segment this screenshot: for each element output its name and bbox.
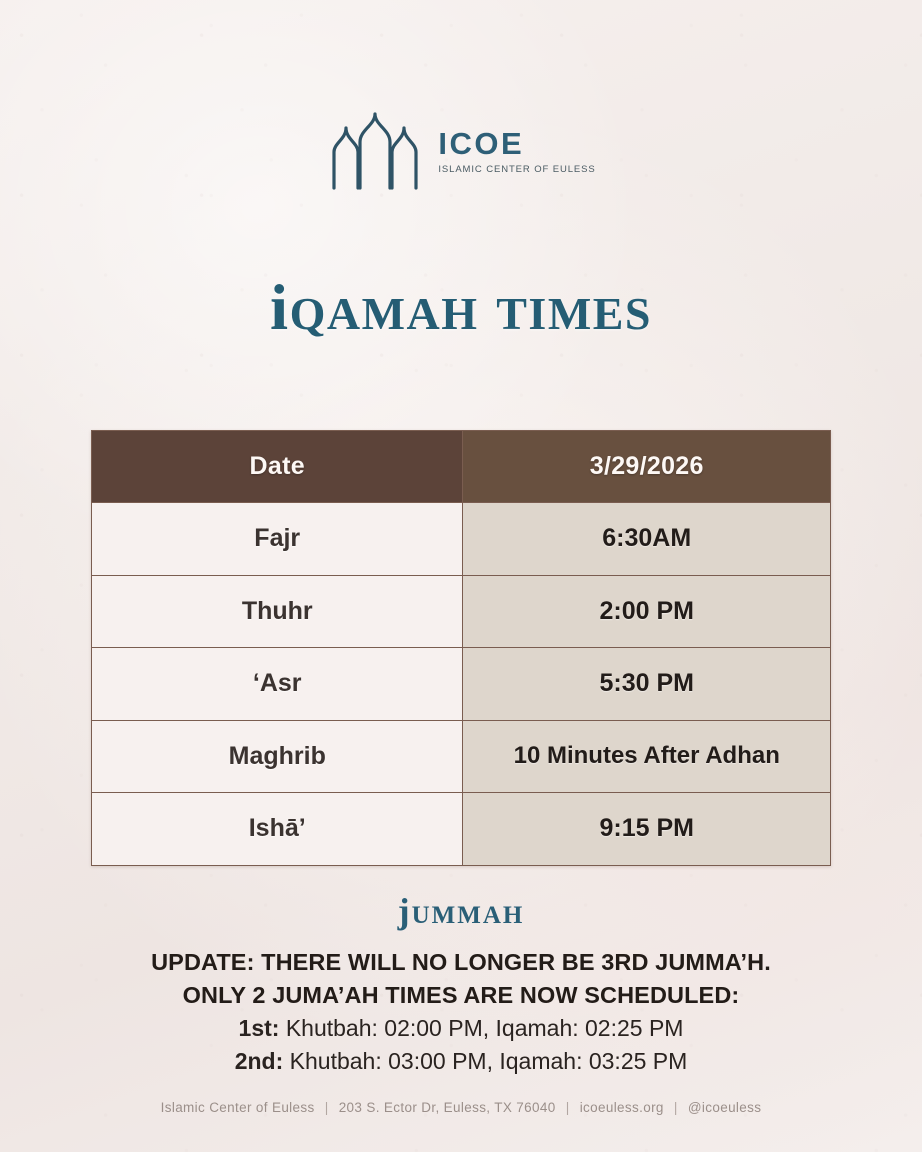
footer-address: 203 S. Ector Dr, Euless, TX 76040 (339, 1100, 556, 1115)
brand-name: ICOE (438, 128, 524, 159)
jummah-notice: UPDATE: THERE WILL NO LONGER BE 3RD JUMM… (0, 946, 922, 1078)
table-body: Fajr 6:30AM Thuhr 2:00 PM ‘Asr 5:30 PM M… (92, 503, 831, 866)
jummah-slot-2: 2nd: Khutbah: 03:00 PM, Iqamah: 03:25 PM (0, 1045, 922, 1078)
table-row: Ishā’ 9:15 PM (92, 793, 831, 866)
prayer-name-fajr: Fajr (92, 503, 463, 576)
jummah-slot-2-detail: Khutbah: 03:00 PM, Iqamah: 03:25 PM (290, 1048, 688, 1074)
prayer-name-maghrib: Maghrib (92, 720, 463, 793)
prayer-name-isha: Ishā’ (92, 793, 463, 866)
prayer-time-fajr: 6:30AM (463, 503, 831, 576)
table-header-row: Date 3/29/2026 (92, 431, 831, 503)
jummah-slot-1-detail: Khutbah: 02:00 PM, Iqamah: 02:25 PM (286, 1015, 684, 1041)
brand-wordmark: ICOE ISLAMIC CENTER OF EULESS (438, 128, 595, 175)
table-row: Maghrib 10 Minutes After Adhan (92, 720, 831, 793)
footer-website[interactable]: icoeuless.org (580, 1100, 664, 1115)
prayer-time-isha: 9:15 PM (463, 793, 831, 866)
jummah-heading: Jummah (0, 893, 922, 929)
prayer-name-asr: ‘Asr (92, 648, 463, 721)
column-header-date: Date (92, 431, 463, 503)
prayer-time-asr: 5:30 PM (463, 648, 831, 721)
table-header: Date 3/29/2026 (92, 431, 831, 503)
brand-logo: ICOE ISLAMIC CENTER OF EULESS (0, 112, 922, 190)
footer-social-handle[interactable]: @icoeuless (688, 1100, 762, 1115)
jummah-slot-1-ordinal: 1st: (239, 1015, 280, 1041)
brand-tagline: ISLAMIC CENTER OF EULESS (438, 164, 595, 175)
table-row: Thuhr 2:00 PM (92, 575, 831, 648)
prayer-name-thuhr: Thuhr (92, 575, 463, 648)
footer-separator-1: | (319, 1100, 335, 1115)
jummah-slot-1: 1st: Khutbah: 02:00 PM, Iqamah: 02:25 PM (0, 1012, 922, 1045)
footer-separator-3: | (668, 1100, 684, 1115)
flyer-page: ICOE ISLAMIC CENTER OF EULESS Iqamah Tim… (0, 0, 922, 1152)
footer-organization: Islamic Center of Euless (161, 1100, 315, 1115)
mosque-icon (326, 112, 424, 190)
jummah-slot-2-ordinal: 2nd: (235, 1048, 284, 1074)
table-row: Fajr 6:30AM (92, 503, 831, 576)
jummah-update-line-2: ONLY 2 JUMA’AH TIMES ARE NOW SCHEDULED: (0, 979, 922, 1012)
iqamah-times-table: Date 3/29/2026 Fajr 6:30AM Thuhr 2:00 PM… (91, 430, 831, 866)
jummah-update-line-1: UPDATE: THERE WILL NO LONGER BE 3RD JUMM… (0, 946, 922, 979)
prayer-time-thuhr: 2:00 PM (463, 575, 831, 648)
footer-separator-2: | (560, 1100, 576, 1115)
prayer-time-maghrib: 10 Minutes After Adhan (463, 720, 831, 793)
footer: Islamic Center of Euless | 203 S. Ector … (0, 1100, 922, 1115)
column-header-value: 3/29/2026 (463, 431, 831, 503)
page-title: Iqamah Times (0, 276, 922, 341)
table-row: ‘Asr 5:30 PM (92, 648, 831, 721)
